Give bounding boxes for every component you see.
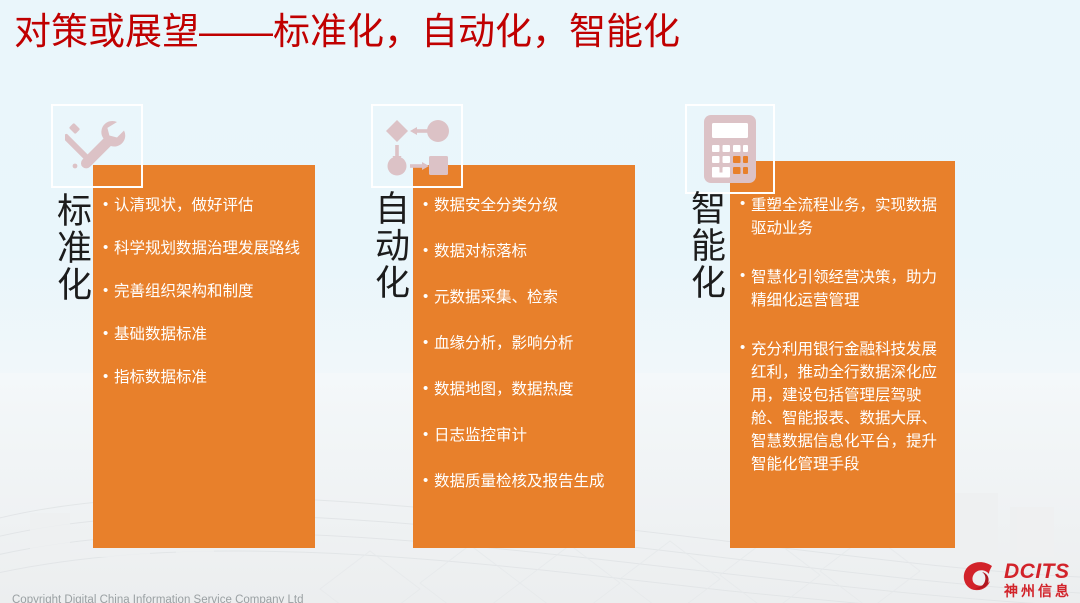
panel-intelligence: 重塑全流程业务，实现数据驱动业务 智慧化引领经营决策，助力精细化运营管理 充分利… — [730, 161, 955, 548]
logo-text: DCITS 神州信息 — [1004, 561, 1072, 598]
list-item: 数据对标落标 — [423, 241, 627, 263]
tools-icon-badge — [51, 104, 143, 188]
list-item: 元数据采集、检索 — [423, 287, 627, 309]
calculator-icon-badge — [685, 104, 775, 194]
column-automation: 自动化 数据安全分类分级 数据对标落标 元数据采集、检索 血缘分析，影响分析 数… — [358, 0, 688, 603]
list-item: 完善组织架构和制度 — [103, 281, 307, 303]
slide-canvas: 对策或展望——标准化，自动化，智能化 标准化 认 — [0, 0, 1080, 603]
column-standardization: 标准化 认清现状，做好评估 科学规划数据治理发展路线 完善组织架构和制度 基础数… — [38, 0, 368, 603]
flowchart-icon-badge — [371, 104, 463, 188]
list-item: 数据质量检核及报告生成 — [423, 471, 627, 493]
list-item: 认清现状，做好评估 — [103, 195, 307, 217]
logo-chinese: 神州信息 — [1004, 584, 1072, 598]
list-item: 充分利用银行金融科技发展红利，推动全行数据深化应用，建设包括管理层驾驶舱、智能报… — [740, 338, 949, 476]
panel-automation: 数据安全分类分级 数据对标落标 元数据采集、检索 血缘分析，影响分析 数据地图，… — [413, 165, 635, 548]
list-item: 基础数据标准 — [103, 324, 307, 346]
footer-copyright: Copyright Digital China Information Serv… — [12, 594, 303, 603]
column-label-intelligence: 智能化 — [686, 190, 728, 301]
list-item: 日志监控审计 — [423, 425, 627, 447]
list-item: 智慧化引领经营决策，助力精细化运营管理 — [740, 266, 949, 312]
list-item: 指标数据标准 — [103, 367, 307, 389]
bullet-list-standardization: 认清现状，做好评估 科学规划数据治理发展路线 完善组织架构和制度 基础数据标准 … — [103, 195, 307, 410]
dcits-swoosh-icon — [962, 560, 998, 599]
list-item: 科学规划数据治理发展路线 — [103, 238, 307, 260]
logo-english: DCITS — [1004, 561, 1072, 582]
list-item: 血缘分析，影响分析 — [423, 333, 627, 355]
panel-standardization: 认清现状，做好评估 科学规划数据治理发展路线 完善组织架构和制度 基础数据标准 … — [93, 165, 315, 548]
bullet-list-automation: 数据安全分类分级 数据对标落标 元数据采集、检索 血缘分析，影响分析 数据地图，… — [423, 195, 627, 517]
list-item: 重塑全流程业务，实现数据驱动业务 — [740, 194, 949, 240]
flowchart-icon — [383, 116, 451, 176]
tools-icon — [65, 116, 129, 176]
column-label-standardization: 标准化 — [52, 192, 94, 303]
column-label-automation: 自动化 — [370, 190, 412, 301]
bullet-list-intelligence: 重塑全流程业务，实现数据驱动业务 智慧化引领经营决策，助力精细化运营管理 充分利… — [740, 194, 949, 502]
list-item: 数据安全分类分级 — [423, 195, 627, 217]
company-logo: DCITS 神州信息 — [962, 560, 1072, 599]
list-item: 数据地图，数据热度 — [423, 379, 627, 401]
column-intelligence: 智能化 重塑全流程业务，实现数据驱动业务 智慧化引领经营决策，助力精细化运营管理… — [676, 0, 1006, 603]
calculator-icon — [701, 113, 759, 185]
